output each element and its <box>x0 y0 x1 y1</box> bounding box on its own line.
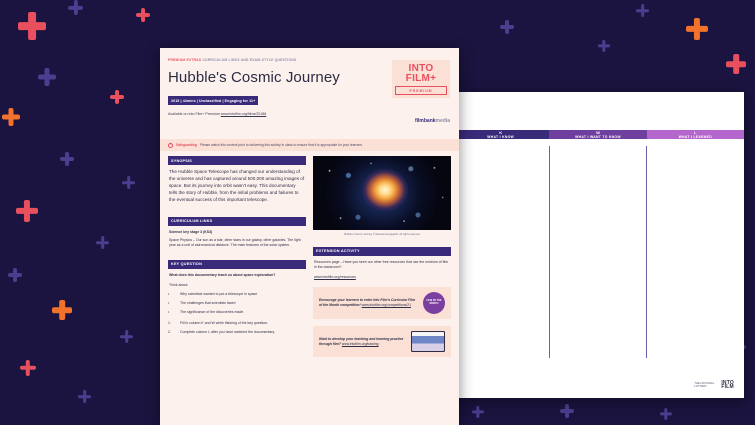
image-caption: Hubble's Cosmic Journey © National Geogr… <box>313 233 451 236</box>
list-item-label: Fill in column K and W while thinking of… <box>180 321 268 326</box>
synopsis-heading: SYNOPSIS <box>168 156 306 165</box>
kwl-label-l: WHAT I LEARNED <box>647 135 744 139</box>
decor-plus-icon <box>96 236 109 249</box>
film-of-the-month-badge: FILM OF THE MONTH <box>423 292 445 314</box>
worksheet-page-1[interactable]: PREMIUM EXTRAS CURRICULUM LINKS AND EXAM… <box>160 48 459 425</box>
decor-plus-icon <box>60 152 74 166</box>
filmbank-media-logo: filmbankmedia <box>415 118 450 124</box>
availability-line: Available on Into Film+ Premium www.into… <box>168 112 451 116</box>
left-column: SYNOPSIS The Hubble Space Telescope has … <box>168 156 306 357</box>
extension-link[interactable]: www.intofilm.org/resources <box>313 270 451 280</box>
decor-plus-icon <box>52 300 72 320</box>
decor-plus-icon <box>8 268 22 282</box>
training-promo-box[interactable]: Want to develop your teaching and learni… <box>313 326 451 357</box>
curriculum-body: Space Physics – Our sun as a star, other… <box>168 235 306 249</box>
training-promo-url[interactable]: www.intofilm.org/training <box>342 342 379 346</box>
list-item: •Why scientists wanted to put a telescop… <box>168 292 306 297</box>
step-number: 1. <box>168 321 176 326</box>
decor-plus-icon <box>636 4 649 17</box>
logo-premium-label: PREMIUM <box>395 86 447 95</box>
key-question-heading: KEY QUESTION <box>168 260 306 269</box>
warning-icon: ! <box>168 143 173 148</box>
decor-plus-icon <box>660 408 672 420</box>
instruction-steps-list: 1.Fill in column K and W while thinking … <box>168 321 306 335</box>
curriculum-subheading: Science key stage 3 (KS3) <box>168 226 306 235</box>
decor-plus-icon <box>110 90 124 104</box>
kwl-column-header-l: L WHAT I LEARNED <box>647 130 744 139</box>
step-number: 2. <box>168 330 176 335</box>
bullet-marker: • <box>168 310 176 315</box>
think-about-list: •Why scientists wanted to put a telescop… <box>168 292 306 315</box>
decor-plus-icon <box>472 406 484 418</box>
galaxy-photo <box>313 156 451 230</box>
eyebrow-rest: CURRICULUM LINKS AND EXAM-STYLE QUESTION… <box>203 58 297 62</box>
list-item-label: Why scientists wanted to put a telescope… <box>180 292 257 297</box>
bullet-marker: • <box>168 292 176 297</box>
extension-heading: EXTENSION ACTIVITY <box>313 247 451 256</box>
decor-plus-icon <box>500 20 514 34</box>
decor-plus-icon <box>598 40 610 52</box>
decor-plus-icon <box>20 360 36 376</box>
synopsis-body: The Hubble Space Telescope has changed o… <box>168 165 306 204</box>
list-item: 2.Complete column L after you have watch… <box>168 330 306 335</box>
competition-promo-text: Encourage your learners to enter Into Fi… <box>319 298 418 308</box>
screenshot-canvas: K WHAT I KNOW W WHAT I WANT TO KNOW L WH… <box>0 0 755 425</box>
decor-plus-icon <box>16 200 38 222</box>
list-item: •The challenges that scientists faced <box>168 301 306 306</box>
safeguarding-title: Safeguarding <box>176 143 197 147</box>
lottery-logo: THE NATIONAL LOTTERY <box>694 382 714 388</box>
laptop-screen <box>412 332 444 351</box>
curriculum-heading: CURRICULUM LINKS <box>168 217 306 226</box>
safeguarding-notice: ! Safeguarding Please watch this content… <box>160 139 459 151</box>
kwl-cell-l[interactable] <box>647 146 744 358</box>
decor-plus-icon <box>18 12 46 40</box>
film-meta-badge: 2015 | 44mins | Unclassified | Engaging … <box>168 96 258 105</box>
list-item-label: The challenges that scientists faced <box>180 301 235 306</box>
think-about-label: Think about: <box>168 278 306 288</box>
logo-line-filmplus: FILM+ <box>395 74 447 84</box>
into-film-plus-logo: INTO FILM+ PREMIUM <box>392 60 450 98</box>
worksheet-page-2[interactable]: K WHAT I KNOW W WHAT I WANT TO KNOW L WH… <box>452 92 744 398</box>
decor-plus-icon <box>560 404 574 418</box>
kwl-table-header: K WHAT I KNOW W WHAT I WANT TO KNOW L WH… <box>452 130 744 139</box>
safeguarding-text: Please watch this content prior to deliv… <box>200 143 363 147</box>
availability-prefix: Available on Into Film+ Premium <box>168 112 221 116</box>
extension-body: Resources page – Have you seen our other… <box>313 256 451 271</box>
decor-plus-icon <box>68 0 83 15</box>
kwl-column-header-k: K WHAT I KNOW <box>452 130 549 139</box>
kwl-cell-k[interactable] <box>452 146 550 358</box>
list-item-label: The significance of the discoveries made… <box>180 310 244 315</box>
decor-plus-icon <box>120 330 133 343</box>
decor-plus-icon <box>38 68 56 86</box>
list-item: •The significance of the discoveries mad… <box>168 310 306 315</box>
competition-promo-box[interactable]: Encourage your learners to enter Into Fi… <box>313 287 451 319</box>
right-column: Hubble's Cosmic Journey © National Geogr… <box>313 156 451 357</box>
kwl-column-header-w: W WHAT I WANT TO KNOW <box>549 130 646 139</box>
laptop-image <box>411 331 445 352</box>
list-item-label: Complete column L after you have watched… <box>180 330 275 335</box>
key-question-text: What does this documentary teach us abou… <box>168 269 306 278</box>
training-promo-text: Want to develop your teaching and learni… <box>319 337 406 347</box>
decor-plus-icon <box>122 176 135 189</box>
decor-plus-icon <box>78 390 91 403</box>
kwl-table-body <box>452 146 744 358</box>
decor-plus-icon <box>2 108 20 126</box>
list-item: 1.Fill in column K and W while thinking … <box>168 321 306 326</box>
filmbank-suffix: media <box>436 118 450 124</box>
bullet-marker: • <box>168 301 176 306</box>
decor-plus-icon <box>726 54 746 74</box>
decor-plus-icon <box>686 18 708 40</box>
filmbank-brand: filmbank <box>415 118 436 124</box>
kwl-label-k: WHAT I KNOW <box>452 135 549 139</box>
kwl-label-w: WHAT I WANT TO KNOW <box>549 135 646 139</box>
decor-plus-icon <box>136 8 150 22</box>
galaxy-stars <box>313 156 451 230</box>
competition-promo-url[interactable]: www.intofilm.org/competitions/21 <box>362 303 411 307</box>
into-film-logo: INTO FILM <box>721 381 734 391</box>
eyebrow-strong: PREMIUM EXTRAS <box>168 58 201 62</box>
extension-url-text: www.intofilm.org/resources <box>314 275 356 279</box>
page2-footer: THE NATIONAL LOTTERY INTO FILM <box>694 381 734 391</box>
kwl-cell-w[interactable] <box>550 146 648 358</box>
availability-link[interactable]: www.intofilm.org/films/20188 <box>221 112 267 116</box>
